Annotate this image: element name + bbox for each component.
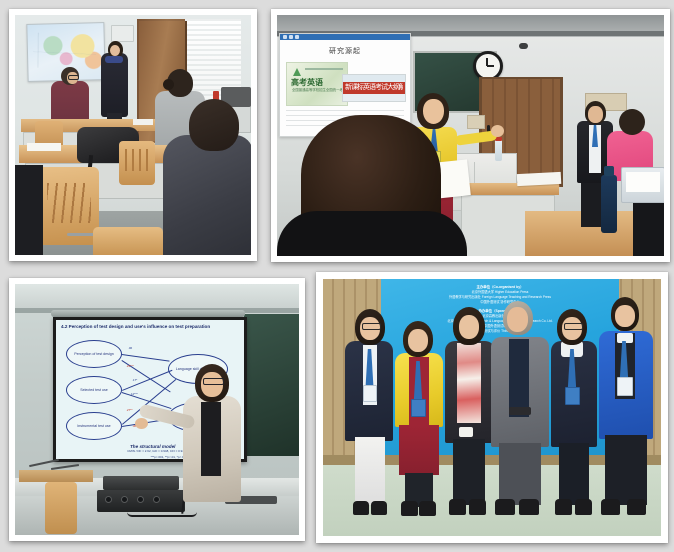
photo-frame-bottom-right[interactable]: 主办单位（Co-organised by） 北京外国语大学 Higher Edu… [316, 272, 668, 543]
person-1-shoe-right [371, 501, 387, 515]
person-4-belt [509, 407, 531, 415]
papers-on-desk [517, 172, 562, 186]
foreground-shadow-left [15, 165, 43, 255]
person-1-glasses-icon [362, 323, 381, 330]
audio-mixer-top [103, 476, 179, 490]
photo-top-right[interactable]: 研究源起 高考英语 全国普通高等学校招生全国统一考试 新课标英语考试大纲解读 [277, 15, 664, 256]
presenter-face [423, 99, 444, 124]
air-conditioner-icon [111, 25, 134, 42]
slide-green-sub: 全国普通高等学校招生全国统一考试 [292, 88, 346, 92]
person-5-shoe-right [575, 499, 592, 515]
audience-arm-foreground [633, 203, 664, 256]
photo-bottom-left[interactable]: 4.2 Perception of test design and use's … [15, 284, 299, 535]
person-6-shoe-left [601, 499, 620, 515]
person-3-shoe-right [469, 499, 486, 515]
side-desk [19, 470, 93, 482]
person-3-phone-icon [459, 427, 473, 437]
person-6-shoe-right [627, 499, 646, 515]
person-6-face [615, 305, 635, 327]
speaker-hand [135, 418, 148, 429]
slide-logo-icon [293, 68, 301, 76]
wooden-chair [45, 482, 77, 534]
foreground-student-body [163, 135, 251, 255]
person-4-shoe-left [495, 499, 515, 515]
model-edge-n1-n4 [122, 354, 170, 362]
model-edge-label-2: .23*** [126, 364, 134, 368]
model-edge-label-1: .06 [128, 346, 132, 350]
chair-middle [119, 141, 155, 185]
green-chalkboard-right [241, 314, 299, 456]
person-5-glasses-icon [564, 323, 583, 330]
photo-frame-top-right[interactable]: 研究源起 高考英语 全国普通高等学校招生全国统一考试 新课标英语考试大纲解读 [271, 9, 670, 262]
person-2-shoe-right [419, 501, 436, 516]
presenter-hand [491, 125, 504, 137]
glasses-icon [68, 75, 79, 80]
photo-bottom-right[interactable]: 主办单位（Co-organised by） 北京外国语大学 Higher Edu… [323, 279, 661, 536]
slide-green-card: 高考英语 全国普通高等学校招生全国统一考试 [286, 62, 348, 106]
photo-frame-bottom-left[interactable]: 4.2 Perception of test design and use's … [9, 278, 305, 541]
slide-red-banner-text: 新课标英语考试大纲解读 [345, 82, 403, 94]
man-suit-face [588, 106, 603, 123]
papers-front-desk [27, 143, 61, 151]
wall-notice [467, 115, 485, 129]
speaker-inner-top [201, 402, 221, 476]
person-3-face [459, 315, 479, 339]
standing-presenter-scarf [105, 56, 123, 63]
model-node-perception: Perception of test design [66, 340, 122, 368]
person-6-trousers [605, 435, 647, 505]
person-1-shoe-left [353, 501, 369, 515]
person-4-shoe-right [519, 499, 539, 515]
security-camera-icon [519, 43, 528, 49]
person-1-trousers [355, 437, 385, 505]
person-2-face [408, 329, 428, 352]
model-node-selected-test-use: Selected test use [66, 376, 122, 404]
thermos-icon [495, 139, 502, 161]
person-2-badge [411, 399, 426, 417]
audio-mixer-body [97, 490, 185, 512]
dark-flask-icon [601, 175, 617, 233]
photo-collage: Classroom observation session with wall … [0, 0, 674, 552]
backdrop-line-4: 中国外语测试 协作研究中心 [381, 300, 619, 305]
foreground-audience-shoulders [277, 211, 467, 256]
paper-on-desk [133, 119, 153, 125]
audience-pink-head [619, 109, 645, 135]
photo-top-left[interactable]: Classroom observation session with wall … [15, 15, 251, 255]
slide-green-heading: 高考英语 [291, 77, 323, 88]
person-3-trousers [453, 439, 485, 505]
person-1-badge [363, 385, 377, 402]
student-grey-hair-bun [163, 79, 174, 90]
model-edge-label-5: .27** [126, 408, 133, 412]
person-4-face [507, 307, 528, 332]
screen-window-titlebar [280, 34, 410, 40]
chair-front-bottom [93, 227, 163, 255]
projection-screen-roller [51, 310, 245, 317]
person-3-floral-scarf [457, 343, 481, 423]
person-6-name-badge [617, 377, 633, 396]
person-4-navy-shirt [509, 339, 529, 417]
person-4-trousers [499, 443, 541, 505]
photo-frame-top-left[interactable]: Classroom observation session with wall … [9, 9, 257, 261]
person-2-skirt [399, 425, 439, 475]
person-5-legs [559, 443, 589, 505]
cable [127, 512, 197, 517]
laptop-icon [621, 167, 664, 203]
slide-title-text: 研究源起 [280, 46, 410, 56]
person-2-shoe-left [401, 501, 418, 516]
slide-red-banner: 新课标英语考试大纲解读 [342, 74, 406, 102]
foreground-student-head [189, 99, 239, 151]
speaker-glasses-icon [203, 378, 224, 385]
standing-presenter-face [110, 45, 120, 56]
slide-heading: 4.2 Perception of test design and use's … [61, 324, 240, 329]
person-3-shoe-left [449, 499, 466, 515]
model-edge-label-3: .17* [132, 378, 137, 382]
model-node-instrumental-test-use: Instrumental test use [66, 412, 122, 440]
person-5-badge [565, 387, 580, 405]
person-5-shoe-left [555, 499, 572, 515]
model-edge-label-4: .12*** [130, 392, 138, 396]
